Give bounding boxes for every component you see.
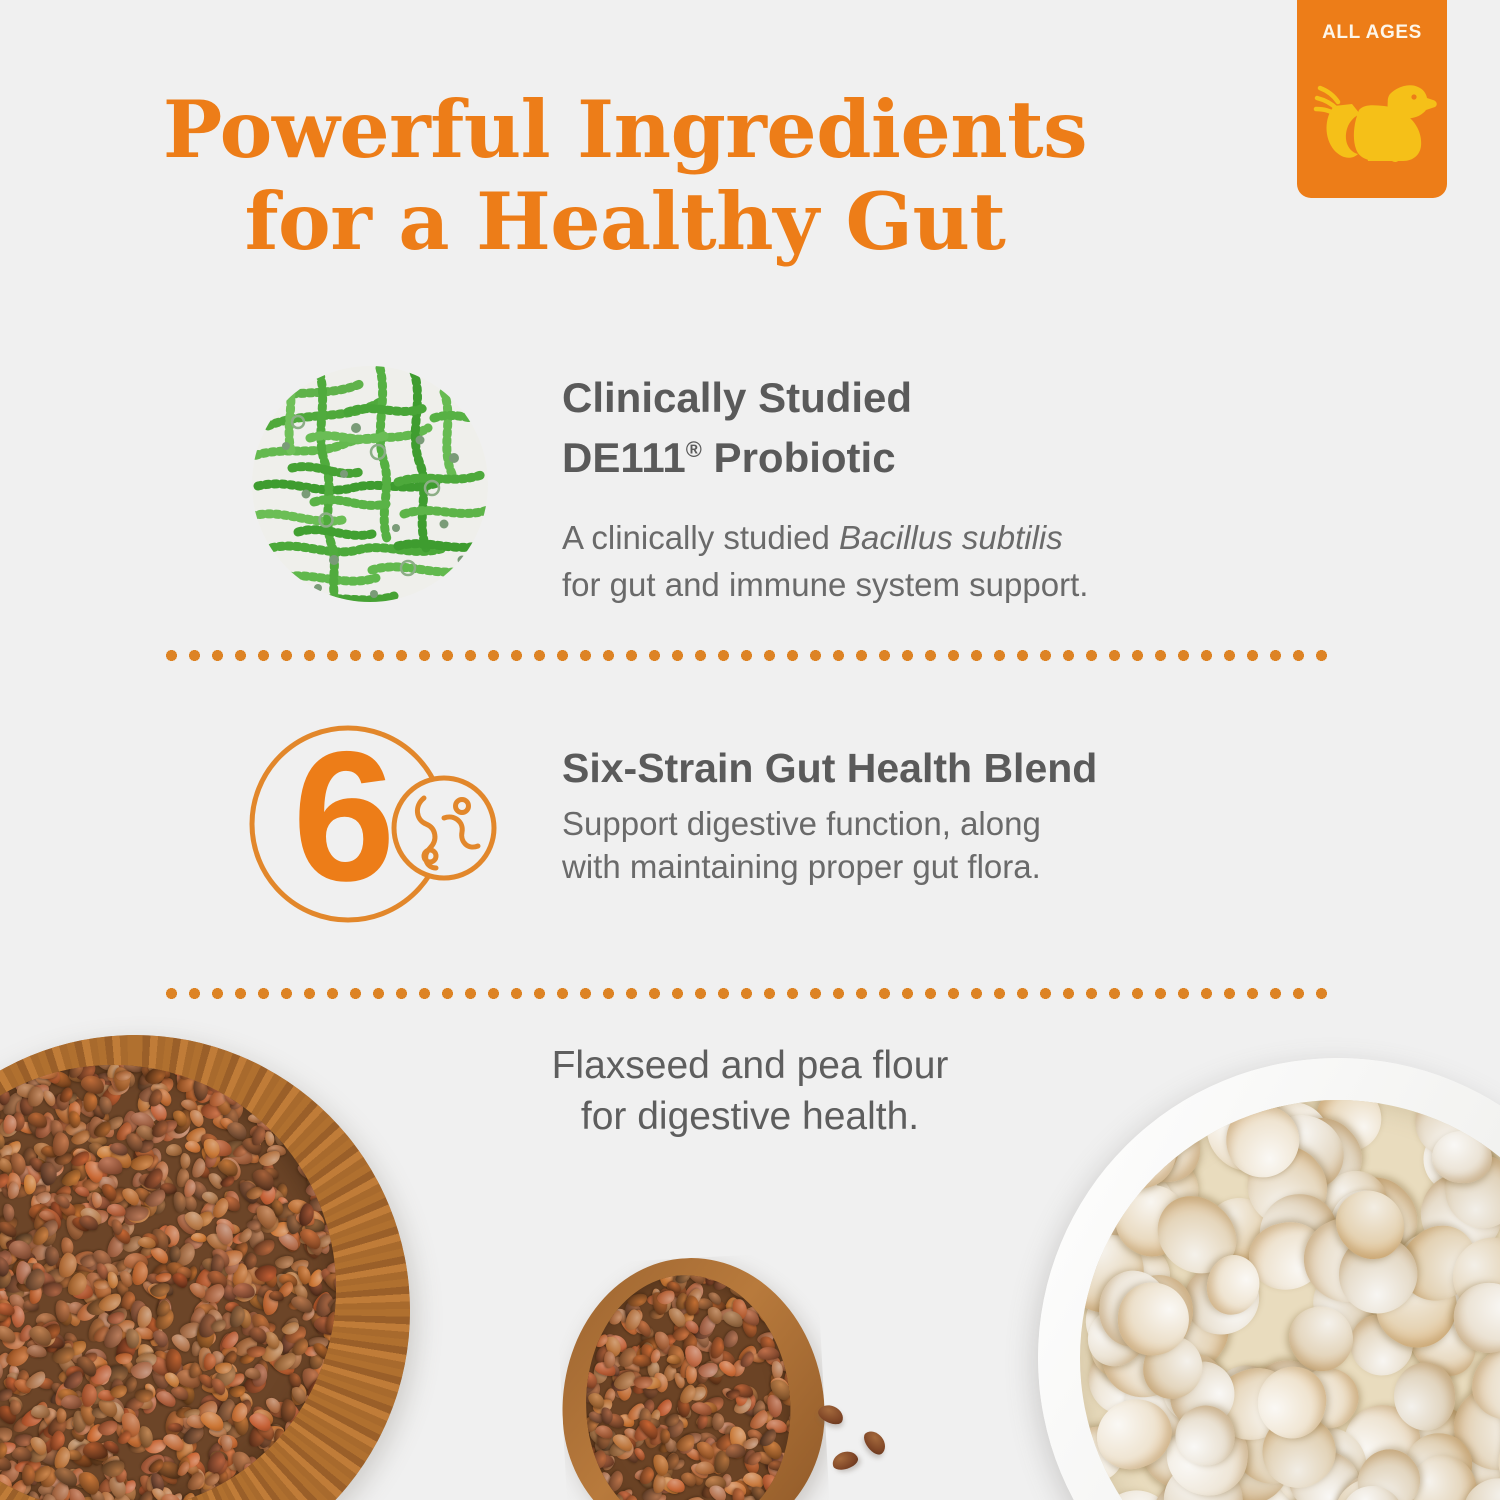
feature-six-strain-body: Support digestive function, along with m…: [562, 803, 1328, 889]
svg-text:6: 6: [293, 722, 396, 920]
flaxseed: [165, 1144, 181, 1156]
flaxseed: [789, 1283, 796, 1300]
feature-probiotic-title-line1: Clinically Studied: [562, 368, 1328, 428]
six-strain-probiotic-icon: 6: [248, 722, 498, 926]
registered-mark: ®: [686, 437, 702, 462]
feature-six-strain-blend: 6 Six-Strain Gut Health Blend Support di…: [248, 722, 1328, 926]
feature-probiotic-body: A clinically studied Bacillus subtilisfo…: [562, 515, 1328, 609]
feature-clinically-studied-probiotic: Clinically Studied DE111® Probiotic A cl…: [248, 362, 1328, 609]
flaxseed: [721, 1329, 741, 1351]
flaxseed: [180, 1491, 198, 1500]
flaxseed: [790, 1287, 796, 1303]
body-prefix: A clinically studied: [562, 519, 839, 556]
microscopy-bacteria-circle-icon: [248, 362, 492, 606]
species-name: Bacillus subtilis: [839, 519, 1063, 556]
all-ages-badge-label: ALL AGES: [1297, 22, 1447, 44]
feature-probiotic-text: Clinically Studied DE111® Probiotic A cl…: [562, 362, 1328, 609]
flaxseed: [792, 1296, 796, 1313]
flaxseed: [772, 1276, 792, 1289]
dotted-divider: [160, 650, 1335, 661]
flaxseed: [579, 1273, 593, 1286]
probiotic-label: Probiotic: [702, 434, 896, 481]
flaxseed: [180, 1153, 190, 1169]
flaxseed-wooden-spoon-photo: [555, 1251, 832, 1500]
flaxseed: [790, 1270, 797, 1279]
flaxseed: [789, 1285, 796, 1311]
flaxseed: [787, 1270, 796, 1288]
feature-probiotic-title: Clinically Studied DE111® Probiotic: [562, 368, 1328, 487]
flaxseed: [43, 1283, 63, 1298]
flaxseed: [61, 1394, 82, 1409]
chickpea-fill: [1080, 1100, 1500, 1500]
flaxseed: [790, 1278, 796, 1300]
feature-probiotic-title-line2: DE111® Probiotic: [562, 428, 1328, 488]
page-title: Powerful Ingredients for a Healthy Gut: [0, 84, 1250, 267]
flaxseed: [30, 1404, 49, 1418]
flaxseed: [579, 1286, 595, 1299]
dotted-divider: [160, 988, 1335, 999]
loose-flaxseed: [860, 1427, 889, 1458]
sitting-dog-icon: [1304, 48, 1440, 170]
bottom-caption: Flaxseed and pea flour for digestive hea…: [0, 1040, 1500, 1143]
flaxseed: [783, 1270, 796, 1283]
flaxseed: [311, 1466, 329, 1478]
feature-six-strain-text: Six-Strain Gut Health Blend Support dige…: [562, 722, 1328, 889]
loose-flaxseed: [830, 1448, 860, 1472]
infographic-page: ALL AGES: [0, 0, 1500, 1500]
all-ages-badge: ALL AGES: [1297, 0, 1447, 198]
de111-label: DE111: [562, 434, 686, 481]
flaxseed: [782, 1270, 797, 1281]
feature-six-strain-title: Six-Strain Gut Health Blend: [562, 744, 1328, 793]
flaxseed: [791, 1274, 796, 1295]
body-suffix: for gut and immune system support.: [562, 566, 1088, 603]
